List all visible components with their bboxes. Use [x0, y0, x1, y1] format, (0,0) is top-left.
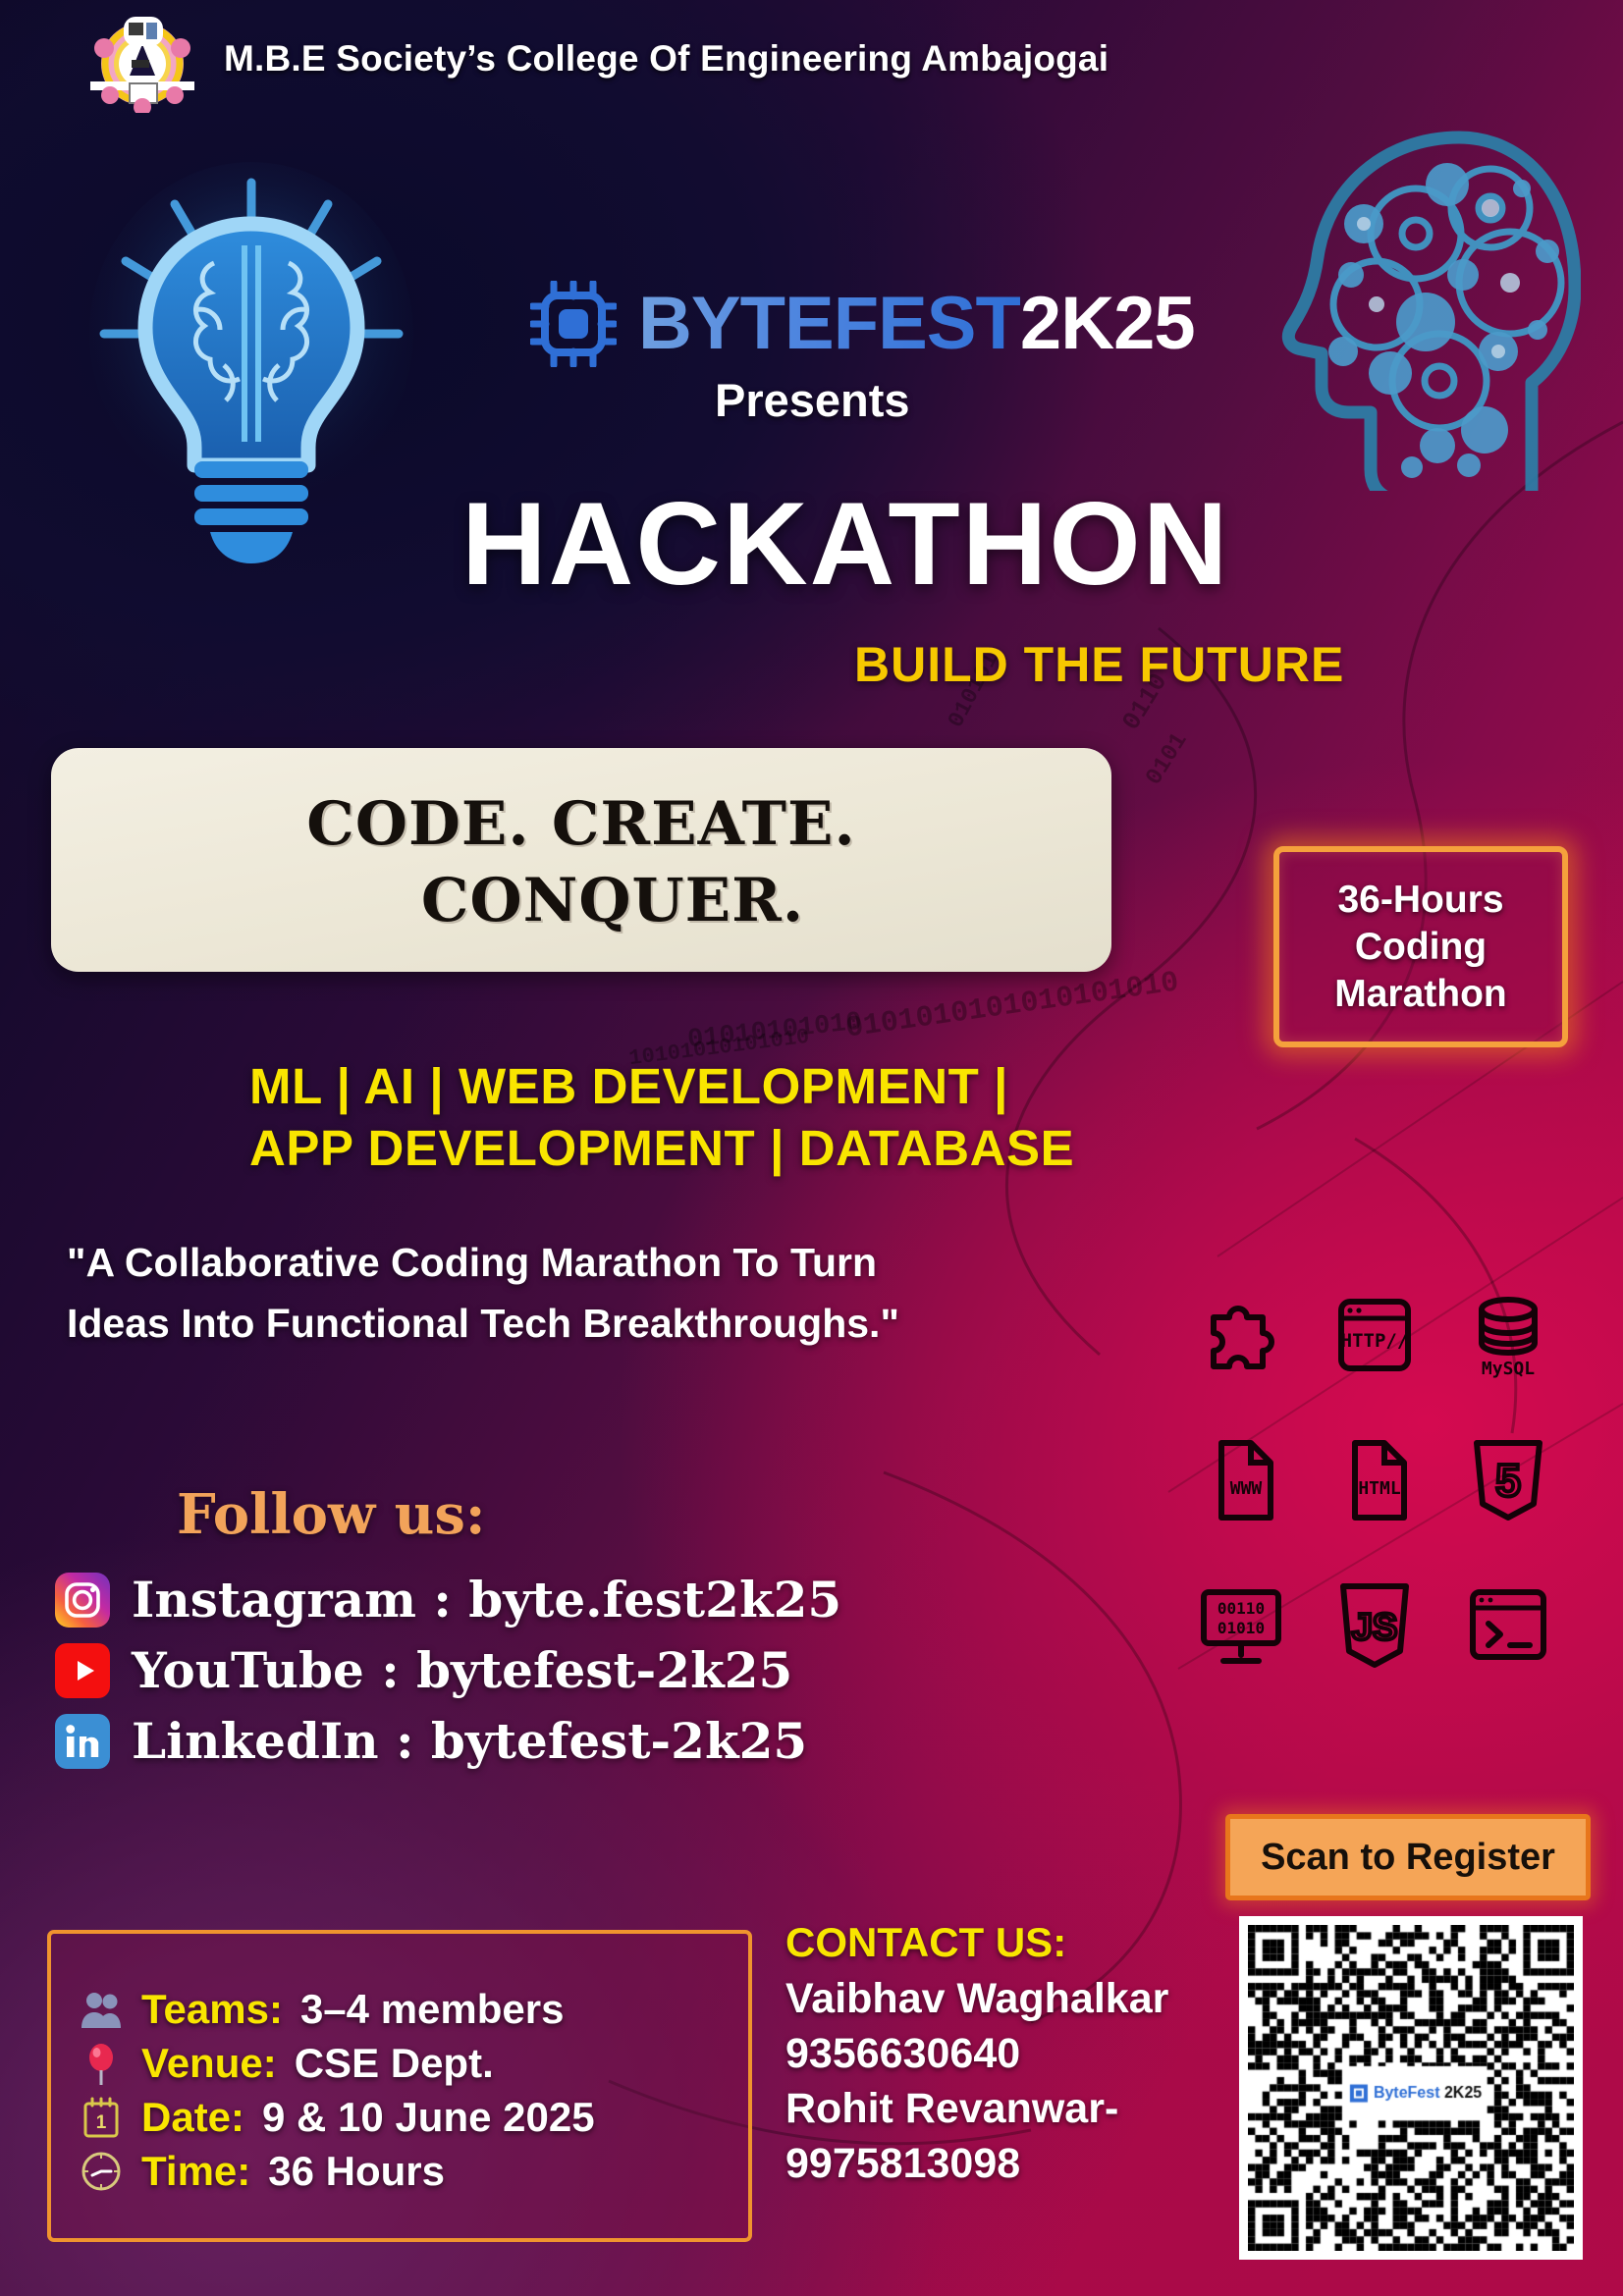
binary-monitor-icon: 00110 01010 [1194, 1578, 1288, 1673]
quote-line-2: Ideas Into Functional Tech Breakthroughs… [67, 1293, 1137, 1354]
svg-text:HTML: HTML [1358, 1478, 1401, 1499]
brand-name-year: 2K25 [1020, 282, 1195, 365]
tech-cell [1445, 1557, 1571, 1694]
tech-cell: JS [1312, 1557, 1437, 1694]
scan-to-register-badge[interactable]: Scan to Register [1225, 1814, 1591, 1900]
html-document-icon: HTML [1327, 1433, 1422, 1527]
svg-text:01010: 01010 [1217, 1619, 1265, 1637]
tech-cell: WWW [1178, 1412, 1304, 1549]
linkedin-icon[interactable] [55, 1714, 110, 1769]
brand-block: BYTEFEST2K25 Presents [530, 281, 1195, 427]
instagram-icon[interactable] [55, 1573, 110, 1628]
contact-line: Vaibhav Waghalkar [785, 1972, 1168, 2027]
social-links-list: Instagram : byte.fest2k25 YouTube : byte… [55, 1571, 841, 1770]
social-label: YouTube : bytefest-2k25 [132, 1641, 792, 1699]
puzzle-piece-icon [1194, 1288, 1288, 1382]
clock-icon [79, 2149, 124, 2194]
duration-badge: 36-Hours Coding Marathon [1273, 846, 1568, 1047]
map-pin-icon [79, 2041, 124, 2086]
svg-text:00110: 00110 [1217, 1599, 1265, 1618]
duration-line-2: Coding [1355, 925, 1487, 969]
tech-cell: 5 [1445, 1412, 1571, 1549]
duration-line-3: Marathon [1334, 972, 1507, 1016]
qr-code-icon[interactable] [1239, 1916, 1583, 2260]
brand-row: BYTEFEST2K25 [530, 281, 1195, 367]
head-gears-icon [1267, 128, 1581, 491]
contact-heading: CONTACT US: [785, 1919, 1168, 1966]
html5-shield-icon: 5 [1461, 1433, 1555, 1527]
follow-us-heading: Follow us: [177, 1482, 486, 1547]
binary-decoration-2: 0101 [1141, 728, 1193, 790]
tech-cell: HTML [1312, 1412, 1437, 1549]
tech-icons-grid: HTTP// MySQL WWW [1178, 1266, 1571, 1694]
http-browser-icon: HTTP// [1327, 1288, 1422, 1382]
detail-value: 3–4 members [300, 1986, 565, 2033]
svg-text:WWW: WWW [1230, 1478, 1263, 1499]
detail-label: Date: [141, 2094, 244, 2141]
tech-cell: MySQL [1445, 1266, 1571, 1404]
page-title: HACKATHON [461, 485, 1229, 603]
mysql-database-icon: MySQL [1461, 1288, 1555, 1382]
microchip-icon [530, 281, 617, 367]
detail-row-venue: Venue: CSE Dept. [79, 2040, 723, 2087]
qr-code-canvas[interactable] [1248, 1925, 1574, 2251]
contact-section: CONTACT US: Vaibhav Waghalkar 9356630640… [785, 1919, 1168, 2192]
college-crest-icon [84, 5, 200, 113]
detail-value: CSE Dept. [295, 2040, 494, 2087]
svg-text:5: 5 [1495, 1455, 1521, 1506]
tracks-line-2: APP DEVELOPMENT | DATABASE [249, 1117, 1074, 1179]
svg-text:JS: JS [1352, 1607, 1397, 1648]
college-name: M.B.E Society’s College Of Engineering A… [224, 38, 1109, 80]
tagline-line-1: CODE. CREATE. [306, 786, 855, 863]
binary-decoration-3: 0101010101010101010 [843, 966, 1180, 1045]
terminal-window-icon [1461, 1578, 1555, 1673]
detail-value: 9 & 10 June 2025 [262, 2094, 595, 2141]
event-quote: "A Collaborative Coding Marathon To Turn… [67, 1232, 1137, 1355]
youtube-icon[interactable] [55, 1643, 110, 1698]
contact-line: Rohit Revanwar- [785, 2082, 1168, 2137]
binary-decoration-4: 01010101010 [686, 1008, 863, 1055]
svg-text:HTTP//: HTTP// [1341, 1330, 1409, 1352]
poster-header: M.B.E Society’s College Of Engineering A… [0, 0, 1623, 118]
detail-label: Time: [141, 2148, 250, 2195]
detail-label: Teams: [141, 1986, 283, 2033]
javascript-shield-icon: JS [1327, 1578, 1422, 1673]
tracks-list: ML | AI | WEB DEVELOPMENT | APP DEVELOPM… [249, 1055, 1074, 1179]
detail-row-teams: Teams: 3–4 members [79, 1986, 723, 2033]
duration-line-1: 36-Hours [1337, 878, 1503, 922]
tech-cell: 00110 01010 [1178, 1557, 1304, 1694]
tagline-line-2: CONQUER. [421, 863, 804, 939]
people-icon [79, 1987, 124, 2032]
scan-to-register-label: Scan to Register [1261, 1837, 1555, 1879]
contact-line: 9356630640 [785, 2027, 1168, 2082]
social-label: LinkedIn : bytefest-2k25 [132, 1712, 807, 1770]
svg-text:1: 1 [96, 2112, 107, 2133]
social-link-youtube[interactable]: YouTube : bytefest-2k25 [55, 1641, 841, 1699]
tracks-line-1: ML | AI | WEB DEVELOPMENT | [249, 1055, 1074, 1117]
detail-label: Venue: [141, 2040, 277, 2087]
hackathon-poster: 0110 0101 0101010101010101010 0101010101… [0, 0, 1623, 2296]
page-subtitle: BUILD THE FUTURE [854, 636, 1344, 693]
svg-text:MySQL: MySQL [1482, 1359, 1535, 1379]
social-link-linkedin[interactable]: LinkedIn : bytefest-2k25 [55, 1712, 841, 1770]
social-link-instagram[interactable]: Instagram : byte.fest2k25 [55, 1571, 841, 1629]
lightbulb-brain-icon [84, 147, 418, 569]
quote-line-1: "A Collaborative Coding Marathon To Turn [67, 1232, 1137, 1293]
contact-line: 9975813098 [785, 2137, 1168, 2192]
www-document-icon: WWW [1194, 1433, 1288, 1527]
brand-name-primary: BYTEFEST [638, 282, 1020, 365]
tech-cell: HTTP// [1312, 1266, 1437, 1404]
tech-cell [1178, 1266, 1304, 1404]
brand-title: BYTEFEST2K25 [638, 287, 1195, 361]
tagline-banner: CODE. CREATE. CONQUER. [51, 748, 1111, 972]
detail-row-time: Time: 36 Hours [79, 2148, 723, 2195]
calendar-icon: 1 [79, 2095, 124, 2140]
social-label: Instagram : byte.fest2k25 [132, 1571, 841, 1629]
presents-label: Presents [715, 373, 1195, 427]
event-details-box: Teams: 3–4 members Venue: CSE Dept. 1 Da… [47, 1930, 752, 2242]
detail-value: 36 Hours [268, 2148, 445, 2195]
detail-row-date: 1 Date: 9 & 10 June 2025 [79, 2094, 723, 2141]
